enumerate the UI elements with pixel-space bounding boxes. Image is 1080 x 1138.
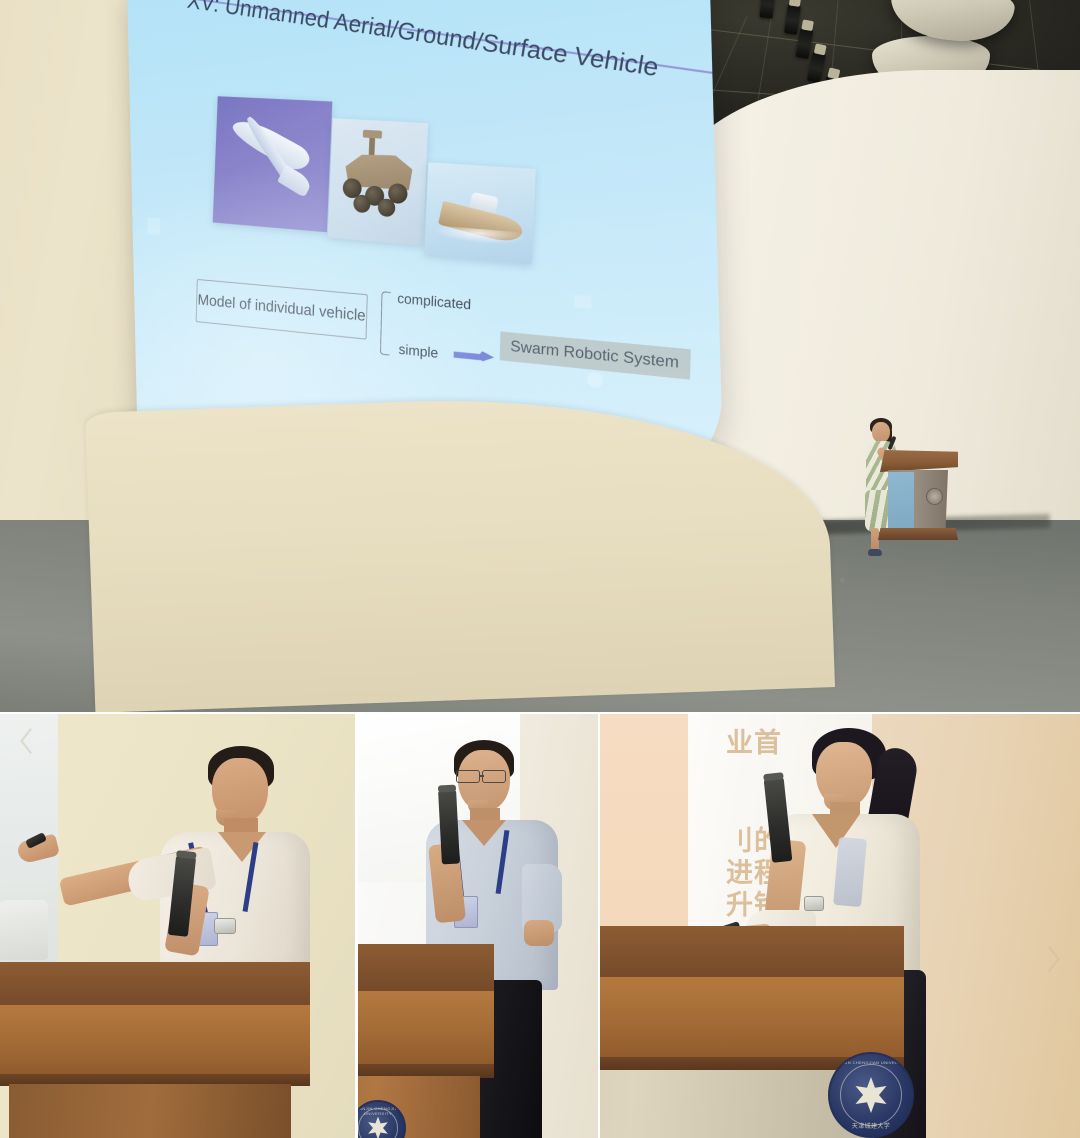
speaker-photo-right: 业首 刂的 进程 升钛 (600, 714, 1080, 1138)
slide-pointer-dot (587, 372, 604, 389)
emblem-text: TIANJIN CHENGJIAN UNIVERSITY (358, 1102, 404, 1138)
diagram-brace (380, 291, 391, 355)
lectern-front-panel (600, 977, 904, 1062)
lectern-emblem: TIANJIN CHENGJIAN UNIVERSITY (358, 1100, 406, 1138)
keynote-presenter (852, 408, 962, 558)
speaker-photo-left (0, 714, 355, 1138)
lectern-front-panel (0, 1005, 310, 1077)
lectern-desktop (358, 944, 494, 994)
lectern-emblem: TIANJIN CHENGJIAN UNIVERSITY 天津城建大学 (828, 1052, 914, 1138)
lectern-desktop (0, 962, 310, 1009)
uav-tail (277, 165, 313, 198)
slide-title: XV: Unmanned Aerial/Ground/Surface Vehic… (185, 0, 660, 83)
swarm-chip-label: Swarm Robotic System (510, 338, 679, 372)
usv-photo (424, 162, 535, 264)
slide-thumbnail-marker (147, 218, 160, 235)
branch-simple-label: simple (398, 341, 438, 361)
model-box-label: Model of individual vehicle (197, 292, 365, 326)
projection-screen-wrap: 大学 NIVERSITY XV: Unmanned Aerial/Ground/… (100, 0, 720, 590)
ugv-wheel (378, 198, 396, 217)
eyeglasses-lens (456, 770, 480, 783)
wristwatch (804, 896, 824, 911)
auditorium-keynote-photo: 大学 NIVERSITY XV: Unmanned Aerial/Ground/… (0, 0, 1080, 712)
eyeglasses-lens (482, 770, 506, 783)
uav-photo (213, 96, 333, 232)
speaker-photo-row: TIANJIN CHENGJIAN UNIVERSITY 业首 刂的 进程 升钛 (0, 714, 1080, 1138)
lectern-blue-panel (888, 472, 914, 528)
swarm-arrow-icon (454, 349, 495, 362)
slide-thumbnail-marker (574, 295, 592, 308)
photo-collage: 大学 NIVERSITY XV: Unmanned Aerial/Ground/… (0, 0, 1080, 1138)
lectern-emblem (926, 488, 943, 505)
handheld-microphone (764, 777, 793, 863)
ugv-mast (369, 136, 376, 158)
lectern-base (878, 528, 958, 540)
branch-complicated-label: complicated (397, 290, 471, 312)
lectern-body (9, 1084, 291, 1138)
wristwatch (214, 918, 236, 934)
model-of-individual-vehicle-box: Model of individual vehicle (196, 279, 368, 340)
handheld-microphone (438, 790, 460, 865)
lectern (0, 962, 310, 1138)
speaker-photo-center: TIANJIN CHENGJIAN UNIVERSITY (358, 714, 598, 1138)
lectern-front-panel (358, 991, 494, 1069)
lectern-desktop (600, 926, 904, 981)
emblem-text: TIANJIN CHENGJIAN UNIVERSITY 天津城建大学 (830, 1054, 912, 1136)
presenter-head (872, 422, 890, 443)
eyeglasses-bridge (479, 775, 484, 777)
presenter-shoe (868, 549, 882, 556)
lanyard-strap (833, 837, 867, 907)
speaker-hand (524, 920, 554, 946)
ugv-photo (328, 118, 428, 246)
lectern-desktop (880, 450, 958, 472)
ugv-wheel (353, 194, 371, 213)
